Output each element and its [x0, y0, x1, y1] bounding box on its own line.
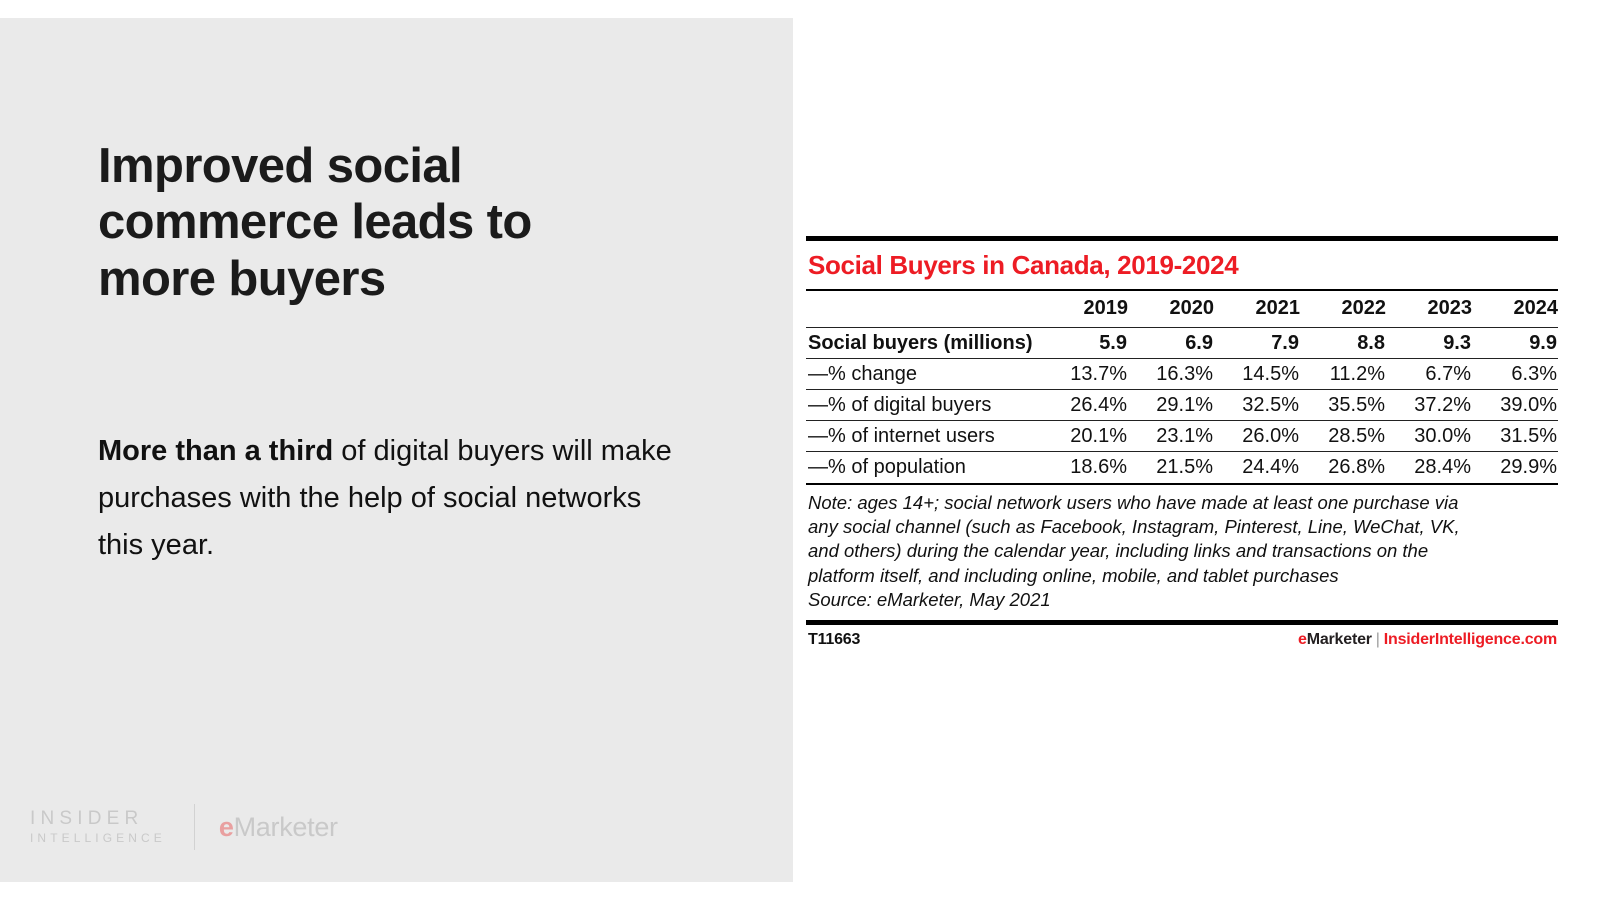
- table-row: Social buyers (millions) 5.9 6.9 7.9 8.8…: [806, 328, 1558, 359]
- cell-social-buyers-2019: 5.9: [1042, 328, 1128, 359]
- table-header-row: 2019 2020 2021 2022 2023 2024: [806, 291, 1558, 328]
- emarketer-logo: eMarketer: [219, 812, 338, 843]
- column-header-2019: 2019: [1042, 291, 1128, 328]
- deck-accent-text: More than a third: [98, 435, 333, 467]
- table-row: —% of digital buyers 26.4% 29.1% 32.5% 3…: [806, 390, 1558, 421]
- cell-pct-change-2022: 11.2%: [1300, 359, 1386, 390]
- cell-pct-change-2021: 14.5%: [1214, 359, 1300, 390]
- cell-pct-population-2024: 29.9%: [1472, 452, 1558, 483]
- table-header: 2019 2020 2021 2022 2023 2024: [806, 291, 1558, 328]
- note-line-2: any social channel (such as Facebook, In…: [808, 515, 1558, 539]
- column-header-label: [806, 291, 1042, 328]
- cell-pct-digital-buyers-2022: 35.5%: [1300, 390, 1386, 421]
- cell-pct-change-2023: 6.7%: [1386, 359, 1472, 390]
- note-line-1: Note: ages 14+; social network users who…: [808, 491, 1558, 515]
- row-label-social-buyers: Social buyers (millions): [806, 328, 1042, 359]
- note-line-3: and others) during the calendar year, in…: [808, 539, 1558, 563]
- cell-pct-population-2023: 28.4%: [1386, 452, 1472, 483]
- column-header-2022: 2022: [1300, 291, 1386, 328]
- row-label-pct-change: —% change: [806, 359, 1042, 390]
- left-panel: Improved social commerce leads to more b…: [0, 18, 793, 882]
- column-header-2020: 2020: [1128, 291, 1214, 328]
- cell-pct-digital-buyers-2019: 26.4%: [1042, 390, 1128, 421]
- cell-pct-change-2020: 16.3%: [1128, 359, 1214, 390]
- cell-pct-internet-users-2024: 31.5%: [1472, 421, 1558, 452]
- footer-brand-e: e: [1298, 631, 1307, 648]
- column-header-2024: 2024: [1472, 291, 1558, 328]
- cell-social-buyers-2023: 9.3: [1386, 328, 1472, 359]
- footer-brand-site[interactable]: InsiderIntelligence.com: [1384, 631, 1557, 648]
- table-row: —% change 13.7% 16.3% 14.5% 11.2% 6.7% 6…: [806, 359, 1558, 390]
- cell-social-buyers-2022: 8.8: [1300, 328, 1386, 359]
- headline-line-2: commerce leads to: [98, 194, 698, 250]
- table-note: Note: ages 14+; social network users who…: [806, 485, 1558, 620]
- cell-pct-digital-buyers-2021: 32.5%: [1214, 390, 1300, 421]
- source-line: Source: eMarketer, May 2021: [808, 588, 1558, 612]
- social-buyers-table: 2019 2020 2021 2022 2023 2024 Social buy…: [806, 291, 1558, 483]
- cell-social-buyers-2020: 6.9: [1128, 328, 1214, 359]
- deck-paragraph: More than a third of digital buyers will…: [98, 428, 683, 569]
- cell-pct-internet-users-2020: 23.1%: [1128, 421, 1214, 452]
- table-body: Social buyers (millions) 5.9 6.9 7.9 8.8…: [806, 328, 1558, 483]
- insider-intelligence-logo: INSIDER INTELLIGENCE: [30, 807, 166, 847]
- cell-pct-population-2019: 18.6%: [1042, 452, 1128, 483]
- insider-logo-bottom: INTELLIGENCE: [30, 831, 166, 846]
- row-label-pct-population: —% of population: [806, 452, 1042, 483]
- cell-pct-internet-users-2023: 30.0%: [1386, 421, 1472, 452]
- footer-brand: eMarketer|InsiderIntelligence.com: [1298, 631, 1557, 649]
- cell-pct-digital-buyers-2023: 37.2%: [1386, 390, 1472, 421]
- headline-line-1: Improved social: [98, 138, 698, 194]
- data-table-card: Social Buyers in Canada, 2019-2024 2019 …: [806, 236, 1558, 649]
- cell-pct-population-2020: 21.5%: [1128, 452, 1214, 483]
- cell-pct-change-2024: 6.3%: [1472, 359, 1558, 390]
- emarketer-logo-e: e: [219, 812, 234, 842]
- cell-pct-digital-buyers-2020: 29.1%: [1128, 390, 1214, 421]
- page-title: Improved social commerce leads to more b…: [98, 138, 698, 307]
- footer-brand-marketer: Marketer: [1307, 631, 1372, 648]
- cell-social-buyers-2024: 9.9: [1472, 328, 1558, 359]
- table-footer: T11663 eMarketer|InsiderIntelligence.com: [806, 625, 1558, 649]
- logo-divider: [194, 804, 195, 850]
- cell-pct-change-2019: 13.7%: [1042, 359, 1128, 390]
- cell-pct-internet-users-2022: 28.5%: [1300, 421, 1386, 452]
- table-title: Social Buyers in Canada, 2019-2024: [806, 241, 1558, 289]
- column-header-2021: 2021: [1214, 291, 1300, 328]
- row-label-pct-digital-buyers: —% of digital buyers: [806, 390, 1042, 421]
- cell-pct-digital-buyers-2024: 39.0%: [1472, 390, 1558, 421]
- footer-brand-divider: |: [1372, 631, 1384, 648]
- note-line-4: platform itself, and including online, m…: [808, 564, 1558, 588]
- cell-social-buyers-2021: 7.9: [1214, 328, 1300, 359]
- table-row: —% of population 18.6% 21.5% 24.4% 26.8%…: [806, 452, 1558, 483]
- brand-logo: INSIDER INTELLIGENCE eMarketer: [30, 804, 338, 850]
- cell-pct-internet-users-2019: 20.1%: [1042, 421, 1128, 452]
- insider-logo-top: INSIDER: [30, 807, 166, 831]
- column-header-2023: 2023: [1386, 291, 1472, 328]
- cell-pct-population-2021: 24.4%: [1214, 452, 1300, 483]
- headline-line-3: more buyers: [98, 251, 698, 307]
- table-row: —% of internet users 20.1% 23.1% 26.0% 2…: [806, 421, 1558, 452]
- table-id: T11663: [808, 631, 860, 649]
- cell-pct-population-2022: 26.8%: [1300, 452, 1386, 483]
- row-label-pct-internet-users: —% of internet users: [806, 421, 1042, 452]
- emarketer-logo-text: Marketer: [234, 812, 338, 842]
- cell-pct-internet-users-2021: 26.0%: [1214, 421, 1300, 452]
